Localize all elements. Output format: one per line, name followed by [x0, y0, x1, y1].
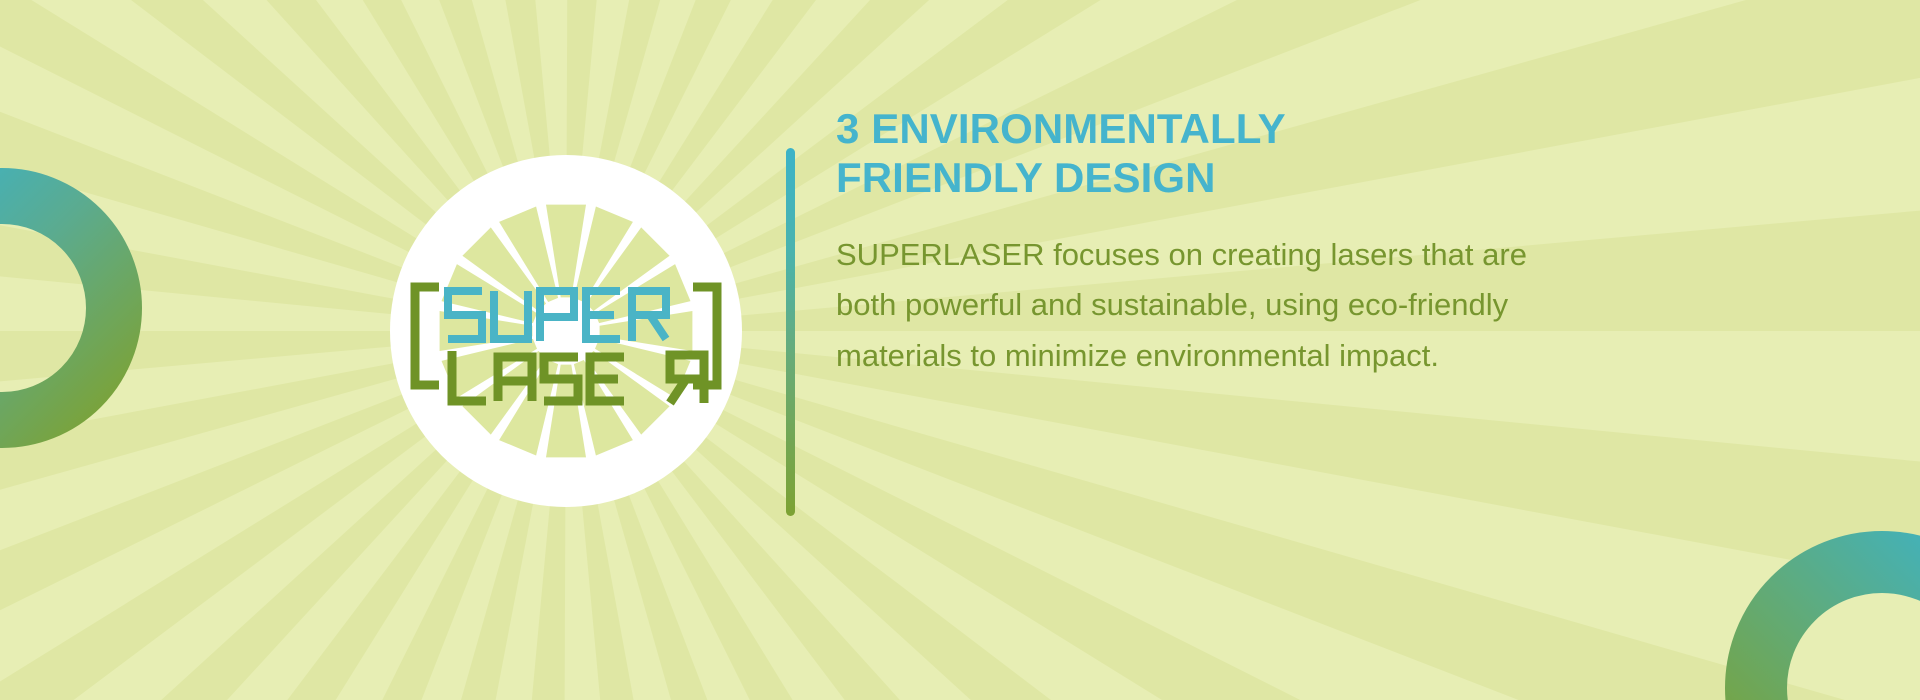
body-paragraph: SUPERLASER focuses on creating lasers th… [836, 230, 1536, 381]
decorative-ring-bottom-right [1712, 518, 1920, 700]
decorative-ring-left [0, 158, 152, 458]
superlaser-logo[interactable] [390, 155, 742, 507]
page-title: 3 ENVIRONMENTALLY FRIENDLY DESIGN [836, 104, 1536, 202]
ring-left-stroke [0, 196, 114, 420]
text-column: 3 ENVIRONMENTALLY FRIENDLY DESIGN SUPERL… [836, 104, 1536, 381]
logo-artwork [390, 155, 742, 507]
section-divider-bar [786, 148, 795, 516]
ring-right-stroke [1756, 562, 1920, 700]
slide-root: 3 ENVIRONMENTALLY FRIENDLY DESIGN SUPERL… [0, 0, 1920, 700]
